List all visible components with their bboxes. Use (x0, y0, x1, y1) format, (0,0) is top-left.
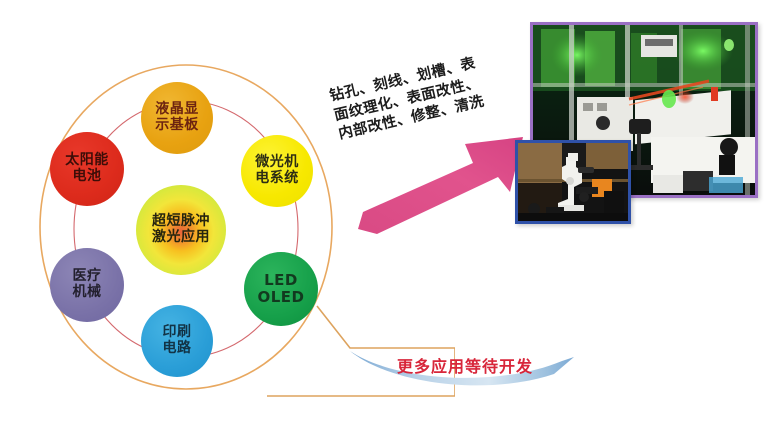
bubble-mems-line2: 电系统 (255, 171, 299, 187)
bubble-led-line1: LED (264, 272, 298, 289)
bubble-solar-cell[interactable]: 太阳能 电池 (50, 132, 124, 206)
bubble-mems[interactable]: 微光机 电系统 (241, 135, 313, 207)
bubble-solar-line2: 电池 (73, 169, 102, 185)
diagram-canvas: 液晶显 示基板 微光机 电系统 LED OLED 印刷 电路 医疗 机械 太阳能… (0, 0, 775, 426)
pink-arrow-shape (358, 137, 523, 234)
bubble-lcd-line1: 液晶显 (155, 102, 199, 118)
bubble-med-line2: 机械 (73, 285, 102, 301)
microscope-photo-graphic (518, 143, 628, 221)
bubble-printed-circuit[interactable]: 印刷 电路 (141, 305, 213, 377)
bubble-solar-line1: 太阳能 (65, 153, 109, 169)
bubble-medical-machinery[interactable]: 医疗 机械 (50, 248, 124, 322)
banner-label: 更多应用等待开发 (370, 353, 560, 377)
bubble-pcb-line2: 电路 (163, 341, 192, 357)
bubble-center-ultrashort-pulse-laser[interactable]: 超短脉冲 激光应用 (136, 185, 226, 275)
pink-arrow-icon (355, 128, 530, 238)
bubble-pcb-line1: 印刷 (163, 325, 192, 341)
center-line2: 激光应用 (152, 230, 210, 246)
bubble-med-line1: 医疗 (73, 269, 102, 285)
microscope-photo (515, 140, 631, 224)
bubble-lcd-substrate[interactable]: 液晶显 示基板 (141, 82, 213, 154)
bubble-mems-line1: 微光机 (255, 155, 299, 171)
center-line1: 超短脉冲 (152, 214, 210, 230)
bubble-lcd-line2: 示基板 (155, 118, 199, 134)
